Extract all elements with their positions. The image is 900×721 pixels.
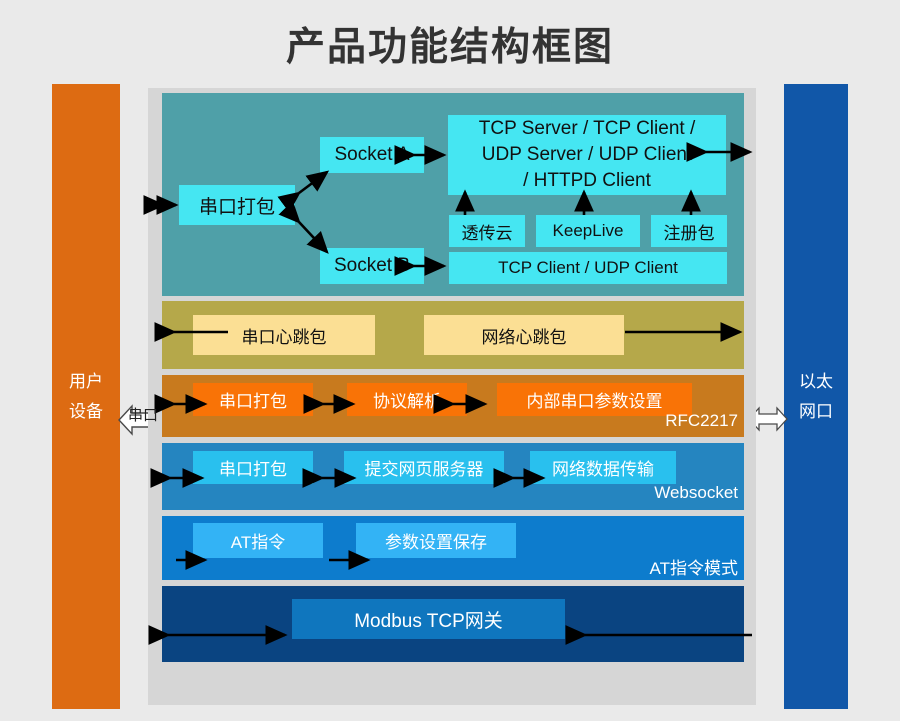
band-modbus: Modbus TCP网关 bbox=[162, 586, 744, 662]
band-socket: 串口打包 Socket A Socket B TCP Server / TCP … bbox=[162, 93, 744, 296]
user-device-label-line2: 设备 bbox=[69, 397, 103, 427]
node-param-save[interactable]: 参数设置保存 bbox=[356, 523, 516, 558]
serial-connector-label: 串口 bbox=[120, 404, 166, 425]
node-modbus-tcp-gateway[interactable]: Modbus TCP网关 bbox=[292, 599, 565, 639]
node-cloud[interactable]: 透传云 bbox=[449, 215, 525, 247]
band-heartbeat: 串口心跳包 网络心跳包 bbox=[162, 301, 744, 369]
protocol-line-1: TCP Server / TCP Client / bbox=[479, 116, 695, 142]
node-register-pack[interactable]: 注册包 bbox=[651, 215, 727, 247]
node-network-heartbeat[interactable]: 网络心跳包 bbox=[424, 315, 624, 355]
node-keeplive[interactable]: KeepLive bbox=[536, 215, 640, 247]
rfc2217-connector-arrow-icon bbox=[756, 408, 757, 409]
user-device-label-line1: 用户 bbox=[69, 367, 103, 397]
protocol-line-2: UDP Server / UDP Client bbox=[482, 142, 692, 168]
band-websocket: 串口打包 提交网页服务器 网络数据传输 Websocket bbox=[162, 443, 744, 510]
node-submit-web-server[interactable]: 提交网页服务器 bbox=[344, 451, 504, 484]
node-protocol-parse[interactable]: 协议解析 bbox=[347, 383, 467, 416]
page-title: 产品功能结构框图 bbox=[0, 16, 900, 72]
band-at-command: AT指令 参数设置保存 AT指令模式 bbox=[162, 516, 744, 580]
node-serial-pack[interactable]: 串口打包 bbox=[179, 185, 295, 225]
ethernet-port-label-line1: 以太 bbox=[799, 367, 833, 397]
user-device-bar: 用户 设备 bbox=[52, 84, 120, 709]
band-tag-websocket: Websocket bbox=[654, 483, 738, 503]
diagram-panel: 串口打包 Socket A Socket B TCP Server / TCP … bbox=[148, 88, 756, 705]
node-tcp-udp-client[interactable]: TCP Client / UDP Client bbox=[449, 252, 727, 284]
rfc2217-right-arrow-icon bbox=[752, 396, 753, 397]
band-tag-at-command: AT指令模式 bbox=[650, 554, 738, 579]
node-protocol-stack[interactable]: TCP Server / TCP Client / UDP Server / U… bbox=[448, 115, 726, 195]
node-serial-heartbeat[interactable]: 串口心跳包 bbox=[193, 315, 375, 355]
node-at-command[interactable]: AT指令 bbox=[193, 523, 323, 558]
band-tag-rfc2217: RFC2217 bbox=[665, 411, 738, 431]
node-socket-a[interactable]: Socket A bbox=[320, 137, 424, 173]
node-serial-pack[interactable]: 串口打包 bbox=[193, 451, 313, 484]
node-serial-pack[interactable]: 串口打包 bbox=[193, 383, 313, 416]
ethernet-port-label-line2: 网口 bbox=[799, 397, 833, 427]
node-internal-serial-param[interactable]: 内部串口参数设置 bbox=[497, 383, 692, 416]
node-network-data-transfer[interactable]: 网络数据传输 bbox=[530, 451, 676, 484]
ethernet-port-bar: 以太 网口 bbox=[784, 84, 848, 709]
protocol-line-3: / HTTPD Client bbox=[523, 168, 651, 194]
node-socket-b[interactable]: Socket B bbox=[320, 248, 424, 284]
band-rfc2217: 串口打包 协议解析 内部串口参数设置 RFC2217 bbox=[162, 375, 744, 437]
